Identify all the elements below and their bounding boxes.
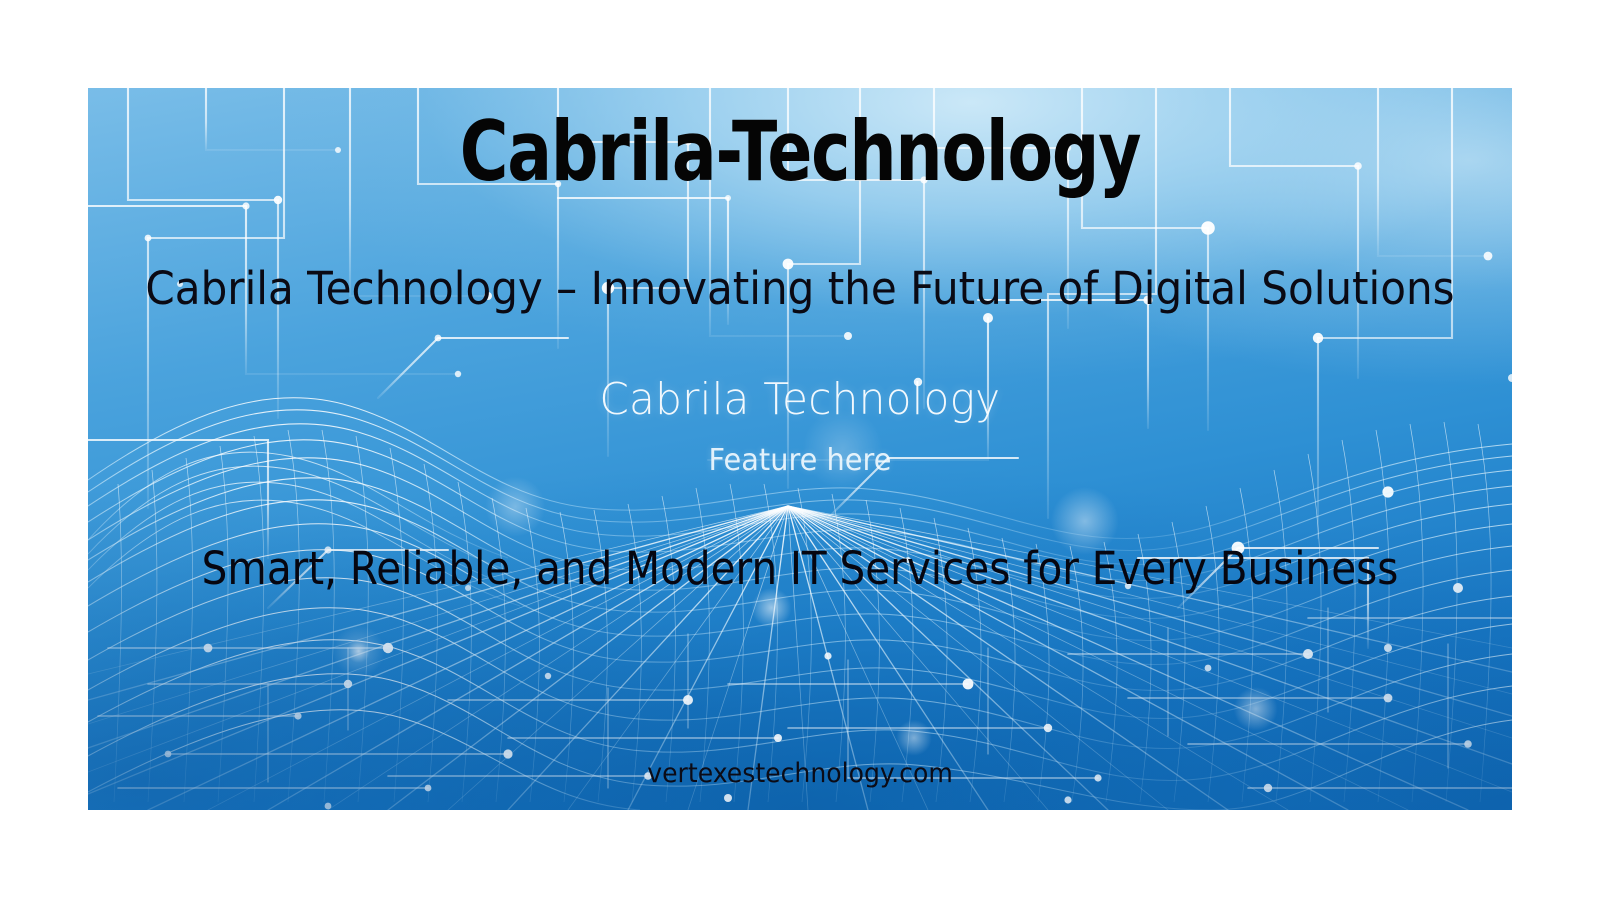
banner-text-content: Cabrila-Technology Cabrila Technology – … xyxy=(88,88,1512,810)
banner-website-url: vertexestechnology.com xyxy=(138,760,1462,787)
logo-feature-label: Feature here xyxy=(116,446,1483,476)
center-logo-block: Cabrila Technology Feature here xyxy=(88,376,1512,476)
banner-tagline: Smart, Reliable, and Modern IT Services … xyxy=(159,546,1441,591)
logo-company-name: Cabrila Technology xyxy=(600,376,1001,424)
banner-subheadline: Cabrila Technology – Innovating the Futu… xyxy=(134,266,1465,311)
banner-graphic: Cabrila-Technology Cabrila Technology – … xyxy=(88,88,1512,810)
page-root: Cabrila-Technology Cabrila Technology – … xyxy=(0,0,1600,900)
banner-headline: Cabrila-Technology xyxy=(230,110,1369,193)
